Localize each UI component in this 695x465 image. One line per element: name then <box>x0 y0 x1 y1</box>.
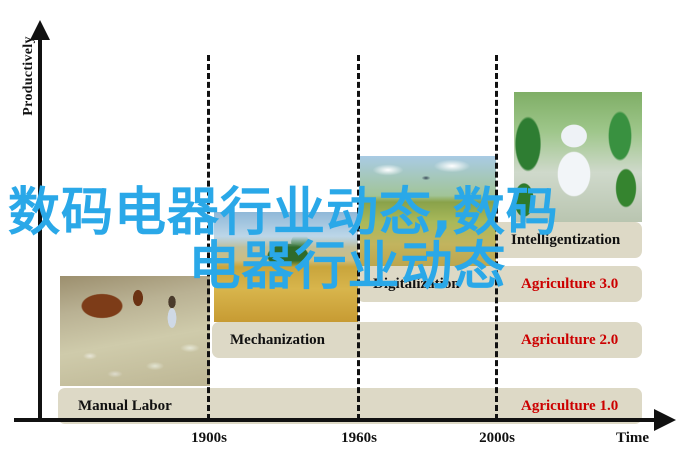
agriculture-evolution-chart: Manual Labor Mechanization Digitalizatio… <box>0 0 695 465</box>
divider-1960s <box>357 55 360 420</box>
x-tick-1900s: 1900s <box>191 430 227 447</box>
agricultural-robot-photo <box>514 92 642 222</box>
stage-label-mechanization: Mechanization <box>230 332 325 349</box>
x-axis <box>14 418 658 422</box>
digital-farming-drone-photo <box>360 156 496 266</box>
y-axis <box>38 36 42 422</box>
x-tick-1960s: 1960s <box>341 430 377 447</box>
x-axis-arrow-icon <box>654 409 676 431</box>
divider-2000s <box>495 55 498 420</box>
ox-plowing-photo <box>60 276 210 386</box>
y-axis-label: Productively <box>21 16 37 136</box>
generation-label-agriculture-3: Agriculture 3.0 <box>521 276 618 293</box>
combine-harvester-photo <box>214 212 358 322</box>
generation-label-agriculture-2: Agriculture 2.0 <box>521 332 618 349</box>
stage-label-intelligentization: Intelligentization <box>511 232 620 249</box>
stage-label-manual-labor: Manual Labor <box>78 398 172 415</box>
x-tick-2000s: 2000s <box>479 430 515 447</box>
generation-label-agriculture-1: Agriculture 1.0 <box>521 398 618 415</box>
stage-label-digitalization: Digitalization <box>373 276 460 293</box>
x-axis-label: Time <box>616 430 649 447</box>
divider-1900s <box>207 55 210 420</box>
